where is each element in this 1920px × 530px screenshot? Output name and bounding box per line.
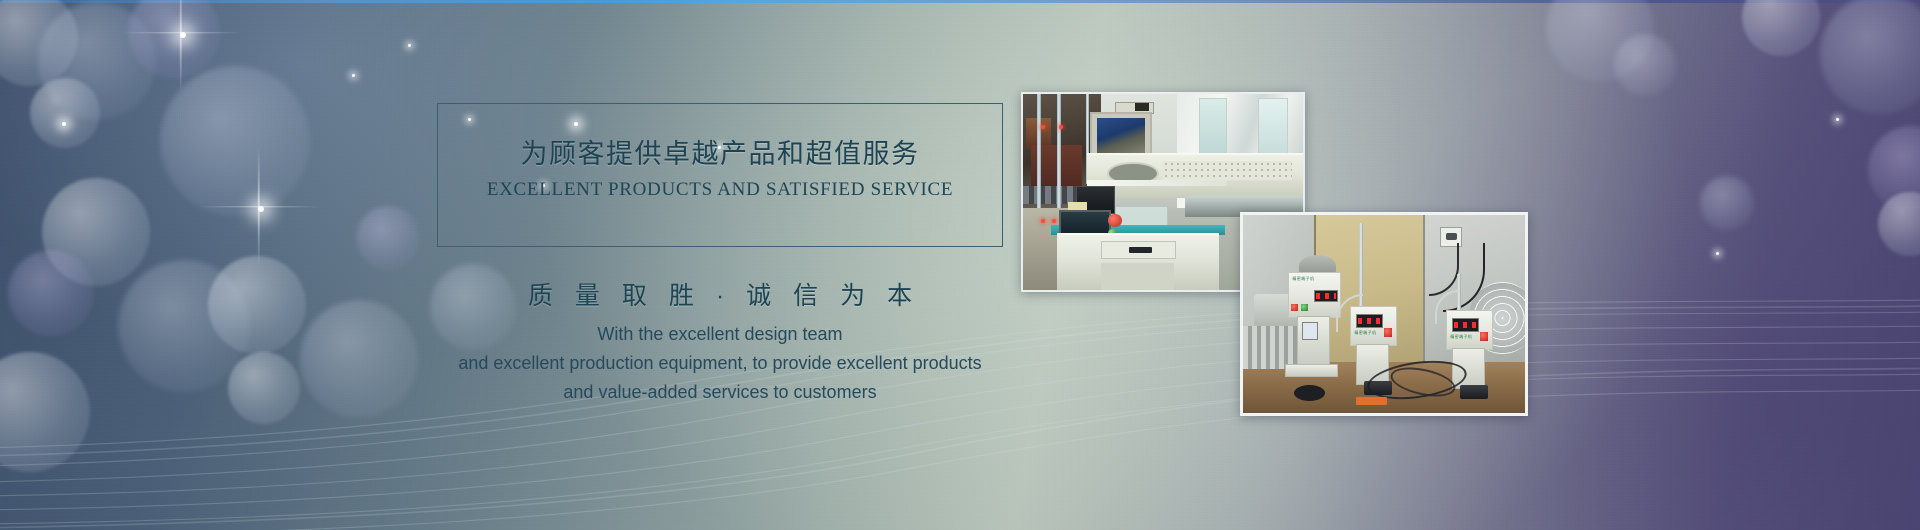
description-line-1: With the excellent design team: [360, 320, 1080, 349]
company-slogan: 质量取胜·诚信为本: [437, 276, 1003, 312]
machine-display: [1314, 290, 1339, 302]
support-pole: [1037, 94, 1041, 208]
machine-brand-text: 精密端子机: [1450, 334, 1472, 340]
headline-frame: 为顾客提供卓越产品和超值服务 EXCELLENT PRODUCTS AND SA…: [437, 103, 1003, 247]
banner-content: 为顾客提供卓越产品和超值服务 EXCELLENT PRODUCTS AND SA…: [0, 0, 1920, 530]
stop-button: [1480, 332, 1488, 341]
support-pole: [1057, 94, 1061, 208]
description-paragraph: With the excellent design team and excel…: [360, 320, 1080, 407]
hand-tool: [1356, 397, 1387, 405]
start-button: [1301, 304, 1308, 311]
terminal-crimping-machines-photo: 精密端子机 精密端子机 精密端子机: [1240, 212, 1528, 416]
stop-button: [1291, 304, 1298, 311]
description-line-3: and value-added services to customers: [360, 378, 1080, 407]
hero-banner: 为顾客提供卓越产品和超值服务 EXCELLENT PRODUCTS AND SA…: [0, 0, 1920, 530]
table-opening: [1101, 263, 1174, 290]
headline-title-cn: 为顾客提供卓越产品和超值服务: [438, 132, 1002, 171]
yellow-label: [1068, 202, 1088, 210]
photo-scene: 精密端子机 精密端子机 精密端子机: [1243, 215, 1525, 413]
wall-seam: [1423, 215, 1425, 365]
machine-vent-grille: [1163, 161, 1292, 181]
overhead-sign-panel: [1135, 103, 1149, 111]
description-line-2: and excellent production equipment, to p…: [360, 349, 1080, 378]
machine-indicator: [1302, 322, 1318, 340]
machine-baseplate: [1285, 364, 1338, 378]
monitor-screen: [1097, 118, 1145, 157]
drawer-handle: [1129, 247, 1151, 253]
headline-title-en: EXCELLENT PRODUCTS AND SATISFIED SERVICE: [438, 179, 1002, 201]
machine-display: [1356, 314, 1383, 328]
machine-display: [1452, 318, 1479, 332]
crimp-anvil: [1460, 385, 1488, 399]
stop-button: [1384, 328, 1392, 337]
machine-brand-text: 精密端子机: [1292, 276, 1314, 282]
machine-brand-text: 精密端子机: [1354, 330, 1376, 336]
glass-tray: [1115, 206, 1167, 228]
floor-disc: [1294, 385, 1325, 401]
